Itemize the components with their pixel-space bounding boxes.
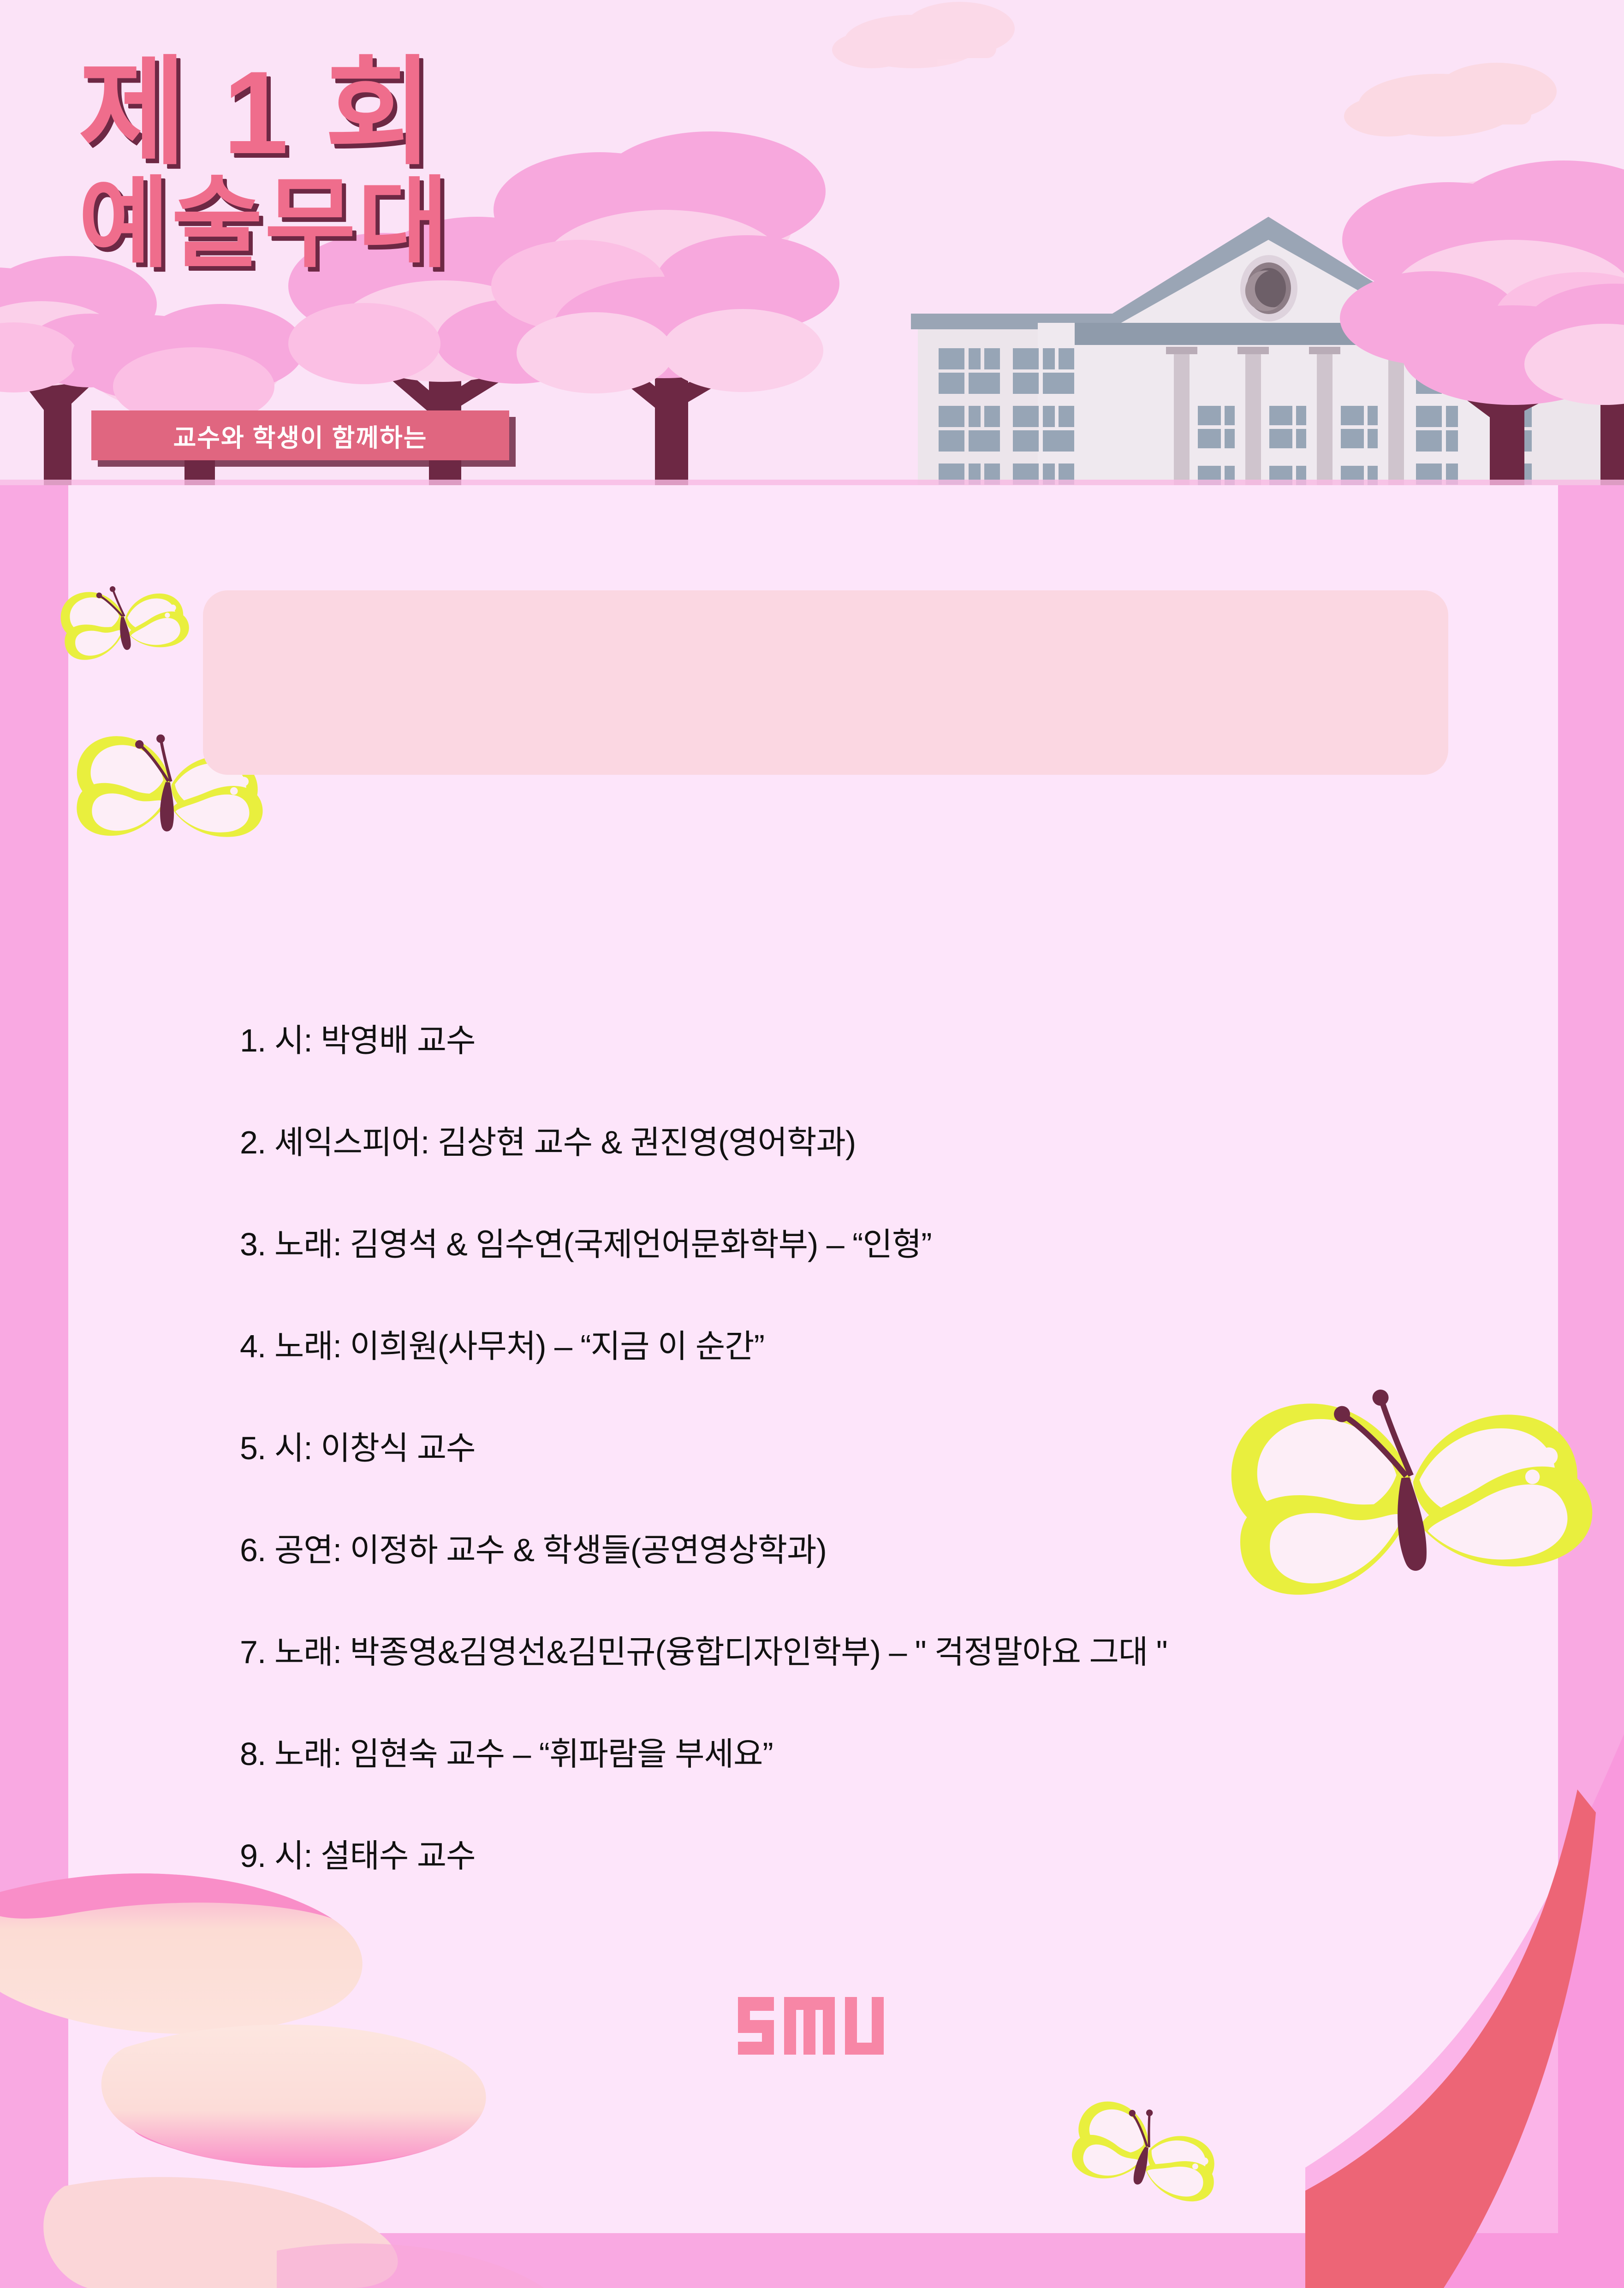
poster-title: 제 1 회 예술무대 — [78, 55, 451, 273]
event-info-card — [203, 590, 1448, 775]
title-line-1: 제 1 회 — [78, 55, 451, 171]
subtitle-text: 교수와 학생이 함께하는 — [173, 417, 428, 454]
list-item: 4. 노래: 이희원(사무처) – “지금 이 순간” — [240, 1320, 1485, 1367]
smu-logo: SMU — [738, 1997, 890, 2055]
butterfly-icon — [1065, 2090, 1230, 2214]
list-item: 1. 시: 박영배 교수 — [240, 1015, 1485, 1061]
smu-logo-mark — [738, 1997, 890, 2055]
cloud-icon — [832, 2, 1015, 68]
subtitle-banner: 교수와 학생이 함께하는 — [91, 410, 509, 460]
program-list: 1. 시: 박영배 교수 2. 셰익스피어: 김상현 교수 & 권진영(영어학과… — [240, 1015, 1485, 1932]
list-item: 2. 셰익스피어: 김상현 교수 & 권진영(영어학과) — [240, 1117, 1485, 1163]
title-line-2: 예술무대 — [78, 175, 451, 273]
list-item: 8. 노래: 임현숙 교수 – “휘파람을 부세요” — [240, 1728, 1485, 1775]
butterfly-icon — [58, 579, 191, 662]
petal-icon — [0, 1873, 544, 2288]
list-item: 3. 노래: 김영석 & 임수연(국제언어문화학부) – “인형” — [240, 1218, 1485, 1265]
university-building-icon — [911, 217, 1612, 580]
list-item: 7. 노래: 박종영&김영선&김민규(융합디자인학부) – " 걱정말아요 그대… — [240, 1626, 1485, 1673]
list-item: 6. 공연: 이정하 교수 & 학생들(공연영상학과) — [240, 1524, 1485, 1571]
list-item: 9. 시: 설태수 교수 — [240, 1830, 1485, 1877]
cloud-icon — [1344, 63, 1557, 137]
poster-canvas: 제 1 회 예술무대 교수와 학생이 함께하는 예술무대 5월 2일(16:30… — [0, 0, 1624, 2288]
list-item: 5. 시: 이창식 교수 — [240, 1422, 1485, 1469]
